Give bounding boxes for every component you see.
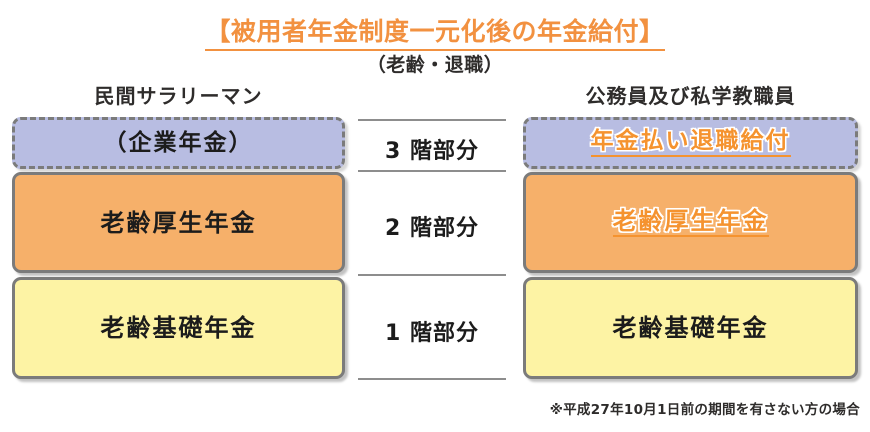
diagram-title-text: 【被用者年金制度一元化後の年金給付】 [205,12,664,51]
footnote: ※平成27年10月1日前の期間を有さない方の場合 [550,398,860,418]
tier-divider-2-1 [358,274,506,276]
box-left-tier2: 老齢厚生年金 [12,172,345,273]
box-left-tier1-label: 老齢基礎年金 [101,316,257,340]
column-header-private-employee: 民間サラリーマン [12,80,345,109]
tier-divider-3-2 [358,170,506,172]
tier-label-1: 1 階部分 [358,315,506,347]
box-right-tier3-label: 年金払い退職給付 [591,130,791,157]
column-header-public-servant: 公務員及び私学教職員 [523,80,858,109]
box-right-tier2: 老齢厚生年金 [523,172,858,273]
tier-label-3: 3 階部分 [358,133,506,165]
tier-label-2: 2 階部分 [358,210,506,242]
box-left-tier2-label: 老齢厚生年金 [101,211,257,235]
box-right-tier2-label: 老齢厚生年金 [613,209,769,237]
box-right-tier3: 年金払い退職給付 [523,117,858,169]
box-left-tier1: 老齢基礎年金 [12,277,345,379]
diagram-title: 【被用者年金制度一元化後の年金給付】 [0,12,870,51]
box-left-tier3: （企業年金） [12,117,345,169]
tier-divider-bottom [358,378,506,380]
box-left-tier3-label: （企業年金） [104,132,254,155]
box-right-tier1: 老齢基礎年金 [523,277,858,379]
tier-divider-top [358,119,506,121]
box-right-tier1-label: 老齢基礎年金 [613,316,769,340]
diagram-subtitle: （老齢・退職） [0,50,870,77]
pension-structure-diagram: 【被用者年金制度一元化後の年金給付】 （老齢・退職） 民間サラリーマン 公務員及… [0,0,870,432]
